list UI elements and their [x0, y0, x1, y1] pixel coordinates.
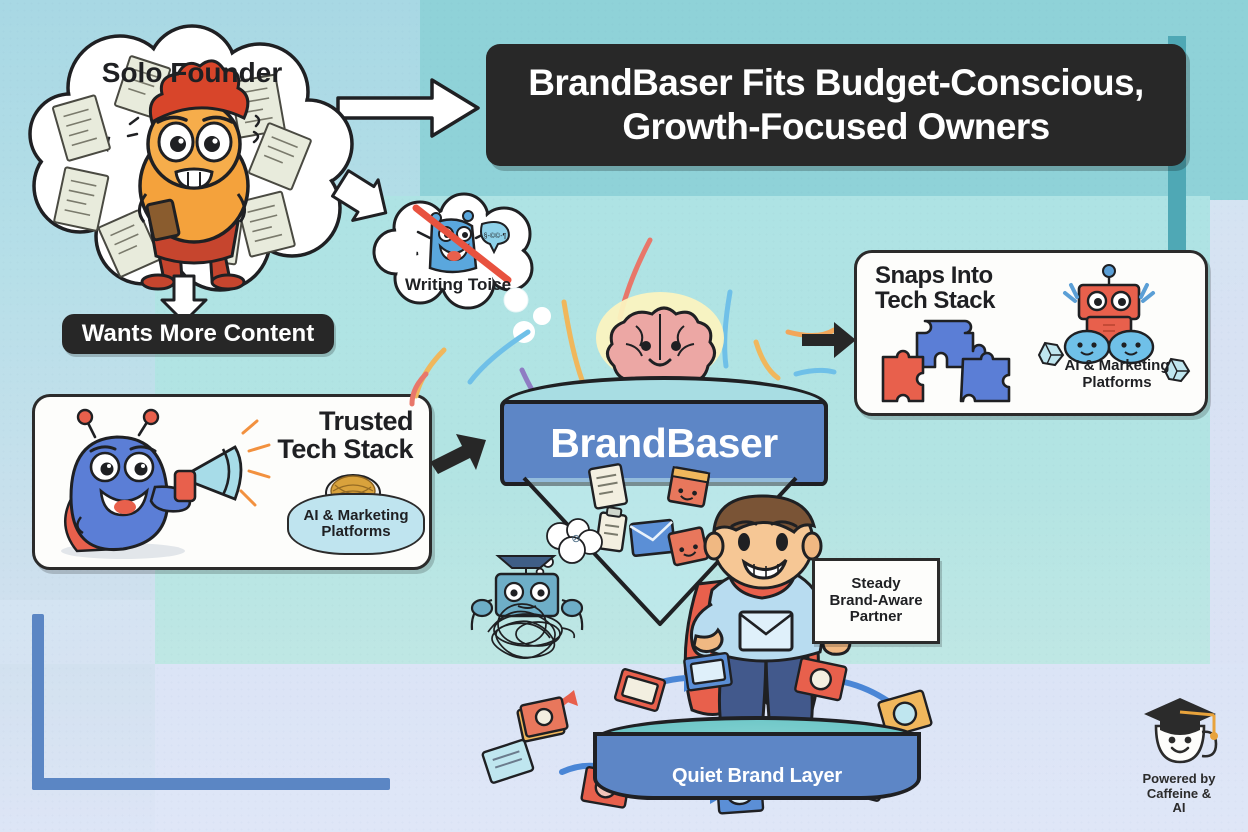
- title-line-1: BrandBaser Fits Budget-Conscious,: [528, 62, 1143, 103]
- powered-by-badge: Powered by Caffeine & AI: [1120, 692, 1238, 824]
- steady-line-3: Partner: [850, 608, 903, 625]
- trusted-card-heading: Trusted Tech Stack: [277, 407, 413, 464]
- powered-by-text: Powered by Caffeine & AI: [1143, 772, 1216, 816]
- steady-line-2: Brand-Aware: [829, 592, 922, 609]
- snaps-card-heading: Snaps Into Tech Stack: [875, 263, 995, 313]
- snaps-chip-line-2: Platforms: [1082, 374, 1151, 391]
- arrow-funnel-to-snaps-icon: [800, 320, 858, 360]
- trusted-tech-stack-card[interactable]: Trusted Tech Stack: [32, 394, 432, 570]
- snaps-platforms-label: AI & Marketing Platforms: [1053, 357, 1181, 392]
- powered-line-3: AI: [1173, 800, 1186, 815]
- trusted-heading-line-1: Trusted: [319, 406, 413, 436]
- puzzle-pieces-icon: [881, 315, 1031, 407]
- svg-text:⊘: ⊘: [571, 533, 580, 545]
- trusted-chip-line-1: AI & Marketing: [303, 507, 408, 524]
- trusted-heading-line-2: Tech Stack: [277, 434, 413, 464]
- steady-sign-text: Steady Brand-Aware Partner: [829, 576, 922, 626]
- bracket-horizontal-bar: [32, 778, 390, 790]
- snaps-heading-line-2: Tech Stack: [875, 287, 995, 314]
- quiet-brand-layer-label: Quiet Brand Layer: [672, 765, 842, 788]
- snaps-into-tech-stack-card[interactable]: Snaps Into Tech Stack: [854, 250, 1208, 416]
- trusted-chip-line-2: Platforms: [321, 523, 390, 540]
- arrow-to-title-icon: [336, 76, 482, 140]
- steady-line-1: Steady: [851, 575, 900, 592]
- funnel-label: BrandBaser: [550, 420, 777, 467]
- wants-more-content-pill: Wants More Content: [62, 314, 334, 354]
- decorative-corner-bracket: [32, 614, 390, 790]
- wants-more-content-label: Wants More Content: [82, 320, 314, 348]
- title-banner: BrandBaser Fits Budget-Conscious, Growth…: [486, 44, 1186, 166]
- snaps-heading-line-1: Snaps Into: [875, 262, 993, 289]
- infographic-canvas: BrandBaser Fits Budget-Conscious, Growth…: [0, 0, 1248, 832]
- arrow-trusted-to-funnel-icon: [428, 428, 490, 476]
- snaps-chip-line-1: AI & Marketing: [1064, 357, 1169, 374]
- bracket-vertical-bar: [32, 614, 44, 790]
- powered-line-2: Caffeine &: [1147, 786, 1211, 801]
- powered-line-1: Powered by: [1143, 771, 1216, 786]
- platform-band: Quiet Brand Layer: [593, 732, 921, 800]
- graduation-cap-coffee-mug-icon: [1136, 692, 1222, 770]
- steady-partner-sign: Steady Brand-Aware Partner: [812, 558, 940, 644]
- tangled-robot-illustration: ⊘: [452, 512, 628, 648]
- solo-founder-cloud: Solo Founder: [24, 26, 354, 288]
- page-title: BrandBaser Fits Budget-Conscious, Growth…: [506, 61, 1165, 148]
- solo-founder-label: Solo Founder: [102, 57, 283, 88]
- quiet-brand-layer-platform: Quiet Brand Layer: [593, 716, 913, 794]
- title-line-2: Growth-Focused Owners: [622, 106, 1049, 147]
- red-robot-illustration: [1053, 265, 1165, 363]
- megaphone-monster-illustration: [43, 409, 283, 561]
- trusted-platforms-chip: AI & Marketing Platforms: [287, 493, 425, 555]
